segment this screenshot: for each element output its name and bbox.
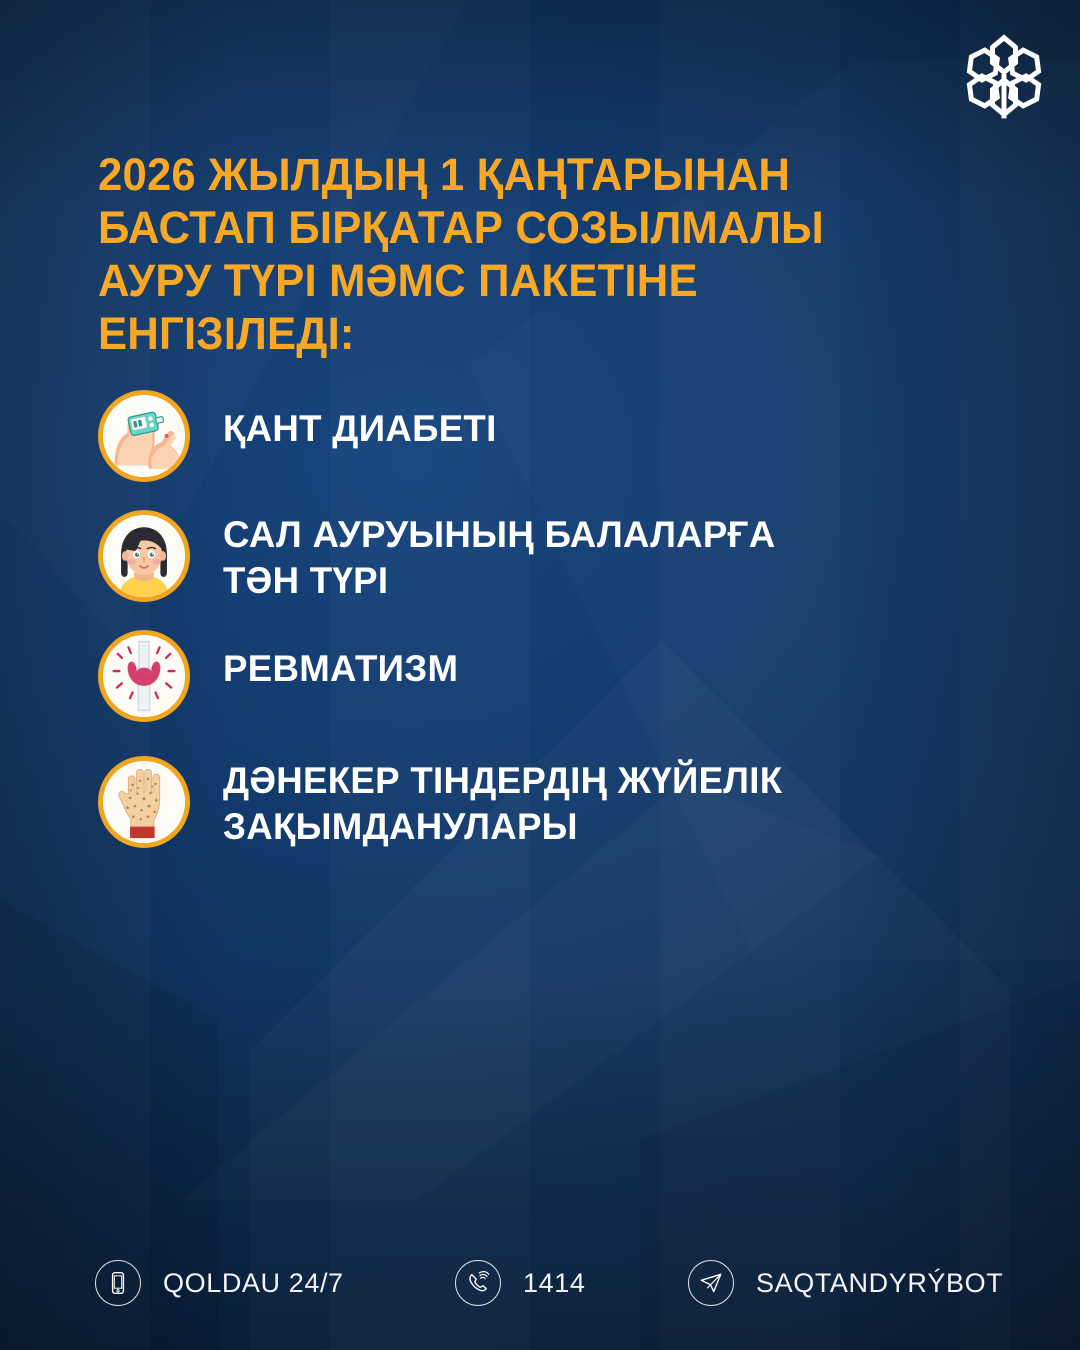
list-item-label: ҚАНТ ДИАБЕТІ [223,388,497,452]
contact-label: QOLDAU 24/7 [163,1268,344,1299]
list-item: САЛ АУРУЫНЫҢ БАЛАЛАРҒА ТӘН ТҮРІ [98,508,1028,604]
list-item-label: ДӘНЕКЕР ТІНДЕРДІҢ ЖҮЙЕЛІК ЗАҚЫМДАНУЛАРЫ [223,754,782,850]
list-item-label: САЛ АУРУЫНЫҢ БАЛАЛАРҒА ТӘН ТҮРІ [223,508,775,604]
contact-qoldau[interactable]: QOLDAU 24/7 [95,1260,344,1306]
contact-telegram-bot[interactable]: SAQTANDYRÝBOT [688,1260,1003,1306]
contact-hotline[interactable]: 1414 [455,1260,585,1306]
snowflake-emblem-icon [956,30,1052,126]
child-face-icon [98,510,190,602]
contact-label: 1414 [523,1268,585,1299]
hand-rash-icon [98,756,190,848]
telegram-paper-plane-icon [688,1260,734,1306]
list-item: ДӘНЕКЕР ТІНДЕРДІҢ ЖҮЙЕЛІК ЗАҚЫМДАНУЛАРЫ [98,754,1028,850]
ringing-phone-icon [455,1260,501,1306]
disease-list: ҚАНТ ДИАБЕТІ [98,388,1028,872]
list-item-label: РЕВМАТИЗМ [223,628,458,692]
infographic-poster: 2026 ЖЫЛДЫҢ 1 ҚАҢТАРЫНАН БАСТАП БІРҚАТАР… [0,0,1080,1350]
smartphone-icon [95,1260,141,1306]
page-title: 2026 ЖЫЛДЫҢ 1 ҚАҢТАРЫНАН БАСТАП БІРҚАТАР… [98,148,971,360]
list-item: ҚАНТ ДИАБЕТІ [98,388,1028,484]
glucometer-hands-icon [98,390,190,482]
contact-label: SAQTANDYRÝBOT [756,1268,1003,1299]
inflamed-knee-joint-icon [98,630,190,722]
footer-contacts: QOLDAU 24/7 1414 SAQTANDY [0,1248,1080,1318]
list-item: РЕВМАТИЗМ [98,628,1028,724]
